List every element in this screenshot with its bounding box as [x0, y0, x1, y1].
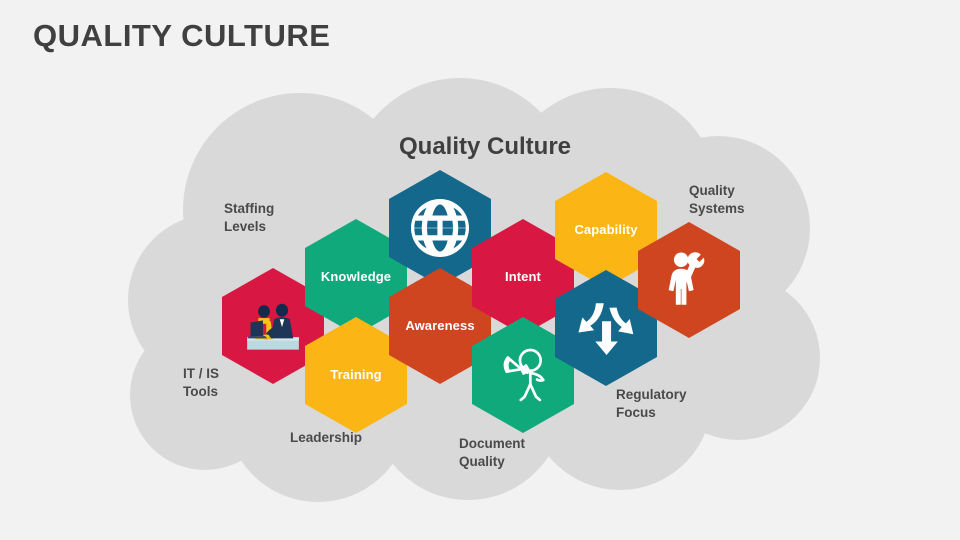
label-it-is-tools: IT / IS Tools	[183, 365, 219, 401]
hexagon-knowledge-label: Knowledge	[317, 270, 395, 285]
hexagon-awareness-label: Awareness	[401, 319, 478, 334]
worker-wrench-icon	[653, 244, 725, 316]
hexagon-intent-label: Intent	[501, 270, 545, 285]
label-leadership: Leadership	[290, 429, 362, 447]
people-laptop-icon	[237, 290, 309, 362]
megaphone-icon	[487, 339, 559, 411]
globe-icon	[408, 196, 472, 260]
hexagon-capability-label: Capability	[570, 223, 641, 238]
label-document-quality: Document Quality	[459, 435, 525, 471]
label-quality-systems: Quality Systems	[689, 182, 745, 218]
label-staffing-levels: Staffing Levels	[224, 200, 274, 236]
slide-canvas: QUALITY CULTURE Quality Culture Staffing…	[0, 0, 960, 540]
label-regulatory-focus: Regulatory Focus	[616, 386, 687, 422]
hexagon-training-label: Training	[326, 368, 385, 383]
three-arrows-icon	[570, 292, 642, 364]
